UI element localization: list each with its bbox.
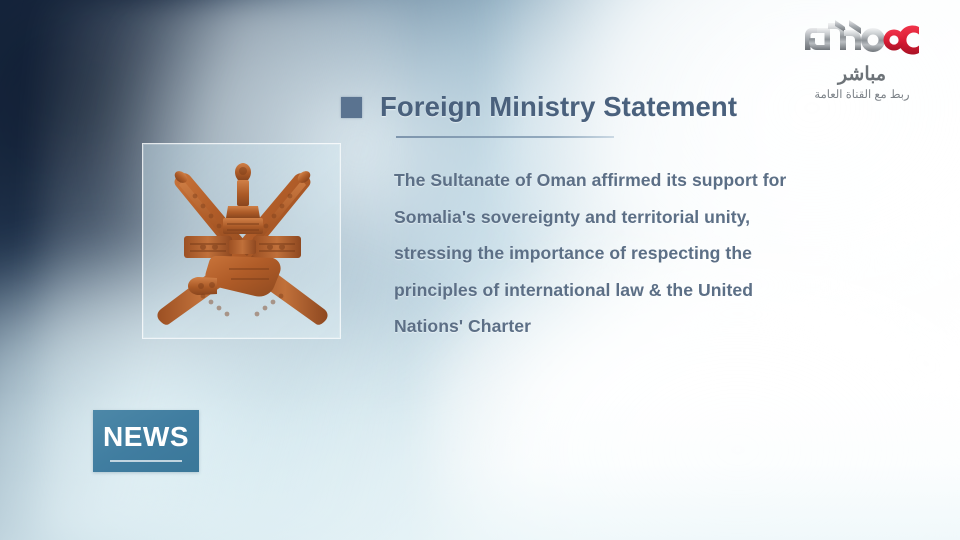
broadcast-graphic: Foreign Ministry Statement The Sultanate… bbox=[0, 0, 960, 540]
channel-tagline: ربط مع القناة العامة bbox=[792, 90, 932, 102]
news-badge-underline bbox=[110, 460, 182, 462]
oman-national-emblem-icon bbox=[143, 144, 342, 340]
statement-line: Nations' Charter bbox=[394, 308, 864, 345]
statement-line: Somalia's sovereignty and territorial un… bbox=[394, 199, 864, 236]
statement-line: principles of international law & the Un… bbox=[394, 272, 864, 309]
statement-line: The Sultanate of Oman affirmed its suppo… bbox=[394, 162, 864, 199]
emblem-panel bbox=[142, 143, 341, 339]
news-badge-label: NEWS bbox=[103, 423, 189, 451]
square-bullet-icon bbox=[341, 97, 362, 118]
headline-divider bbox=[396, 136, 614, 138]
page-title: Foreign Ministry Statement bbox=[380, 92, 737, 122]
channel-live-label: مباشر bbox=[792, 65, 932, 84]
news-badge: NEWS bbox=[93, 410, 199, 472]
statement-line: stressing the importance of respecting t… bbox=[394, 235, 864, 272]
channel-logo: مباشر ربط مع القناة العامة bbox=[792, 18, 932, 102]
headline-block: Foreign Ministry Statement bbox=[341, 92, 861, 122]
headline-row: Foreign Ministry Statement bbox=[341, 92, 861, 122]
statement-body: The Sultanate of Oman affirmed its suppo… bbox=[394, 162, 864, 345]
oman-tv-wordmark-icon bbox=[797, 18, 927, 62]
